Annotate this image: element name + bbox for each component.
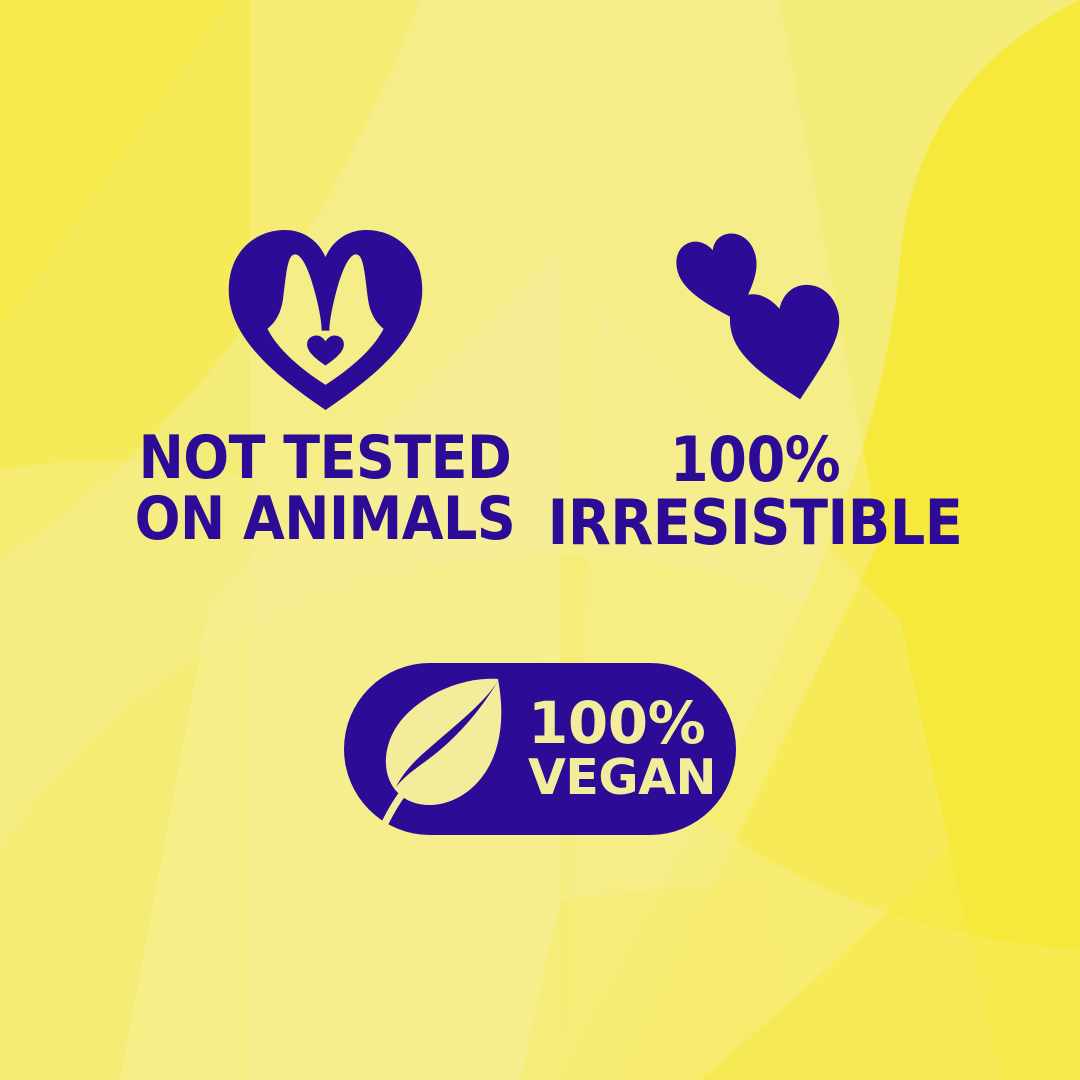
two-hearts-icon [658,230,853,410]
vegan-word: VEGAN [528,755,716,802]
claim-not-tested-on-animals: NOT TESTED ON ANIMALS [110,230,540,550]
leaf-icon [370,669,520,829]
leaf-icon-wrap [370,669,520,829]
bunny-in-heart-icon [228,230,423,410]
two-hearts-icon-wrap [658,230,853,410]
claim-label-not-tested: NOT TESTED ON ANIMALS [135,428,516,550]
vegan-percent: 100% [528,696,716,751]
bunny-in-heart-icon-wrap [228,230,423,410]
vegan-badge-text: 100% VEGAN [528,696,716,802]
bunny-nose-heart [307,335,344,365]
vegan-badge-wrap: 100% VEGAN [0,663,1080,835]
claim-label-irresistible: 100% IRRESISTIBLE [548,428,963,554]
claim-irresistible: 100% IRRESISTIBLE [540,230,970,554]
promo-graphic: NOT TESTED ON ANIMALS 100% IRRESISTIBLE [0,0,1080,1080]
leaf-stem [382,791,406,825]
claims-row: NOT TESTED ON ANIMALS 100% IRRESISTIBLE [0,230,1080,554]
vegan-badge: 100% VEGAN [344,663,736,835]
